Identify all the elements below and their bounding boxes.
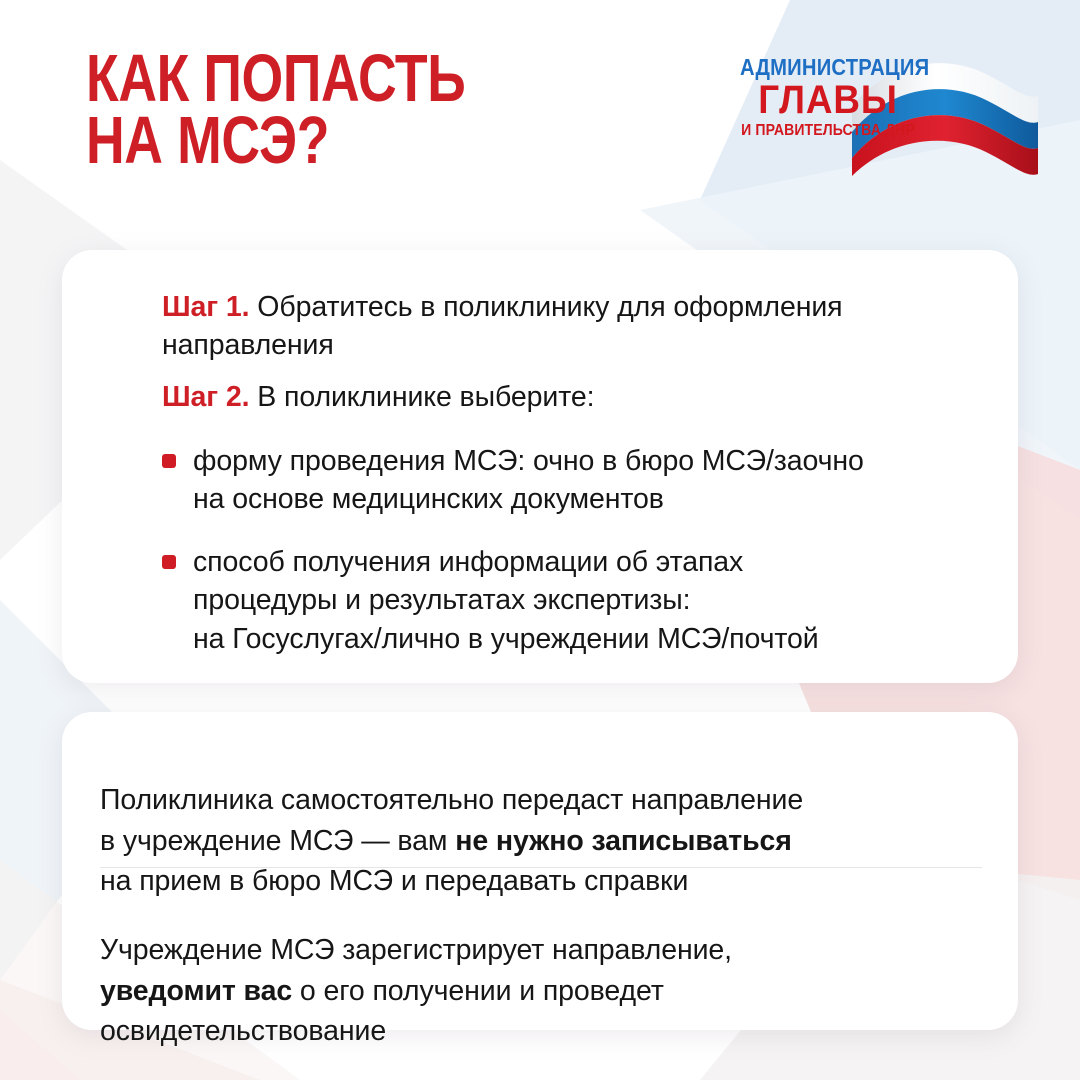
logo-line-administration: АДМИНИСТРАЦИЯ	[740, 56, 916, 79]
list-item: способ получения информации об этапах пр…	[162, 543, 1012, 658]
options-list: форму проведения МСЭ: очно в бюро МСЭ/за…	[162, 442, 1012, 658]
step-1-label: Шаг 1.	[162, 291, 249, 323]
notes-divider	[100, 867, 982, 868]
red-square-bullet-icon	[162, 454, 176, 468]
step-2-paragraph: Шаг 2. В поликлинике выберите:	[162, 378, 992, 416]
step-2-text: В поликлинике выберите:	[249, 381, 594, 413]
list-item: форму проведения МСЭ: очно в бюро МСЭ/за…	[162, 442, 1012, 519]
notes-card: Поликлиника самостоятельно передаст напр…	[62, 712, 1018, 1030]
red-square-bullet-icon	[162, 555, 176, 569]
logo-line-head: ГЛАВЫ	[736, 80, 920, 120]
logo-wordmark: АДМИНИСТРАЦИЯ ГЛАВЫ И ПРАВИТЕЛЬСТВА ДНР	[728, 56, 928, 139]
organization-logo: АДМИНИСТРАЦИЯ ГЛАВЫ И ПРАВИТЕЛЬСТВА ДНР	[720, 50, 1040, 185]
step-1-text: Обратитесь в поликлинику для оформления …	[162, 291, 843, 361]
page-header: КАК ПОПАСТЬ НА МСЭ?	[0, 0, 1080, 250]
note-2-bold: уведомит вас	[100, 975, 292, 1007]
logo-line-government: И ПРАВИТЕЛЬСТВА ДНР	[740, 123, 916, 139]
note-2-pre: Учреждение МСЭ зарегистрирует направлени…	[100, 934, 732, 966]
step-2-label: Шаг 2.	[162, 381, 249, 413]
list-item-text: форму проведения МСЭ: очно в бюро МСЭ/за…	[193, 442, 864, 519]
note-1-bold: не нужно записываться	[455, 825, 792, 857]
steps-card: Шаг 1. Обратитесь в поликлинику для офор…	[62, 250, 1018, 683]
note-paragraph-1: Поликлиника самостоятельно передаст напр…	[100, 740, 990, 902]
list-item-text: способ получения информации об этапах пр…	[193, 543, 819, 658]
note-paragraph-2: Учреждение МСЭ зарегистрирует направлени…	[100, 890, 990, 1052]
step-1-paragraph: Шаг 1. Обратитесь в поликлинику для офор…	[162, 288, 992, 365]
page-title: КАК ПОПАСТЬ НА МСЭ?	[86, 48, 465, 171]
